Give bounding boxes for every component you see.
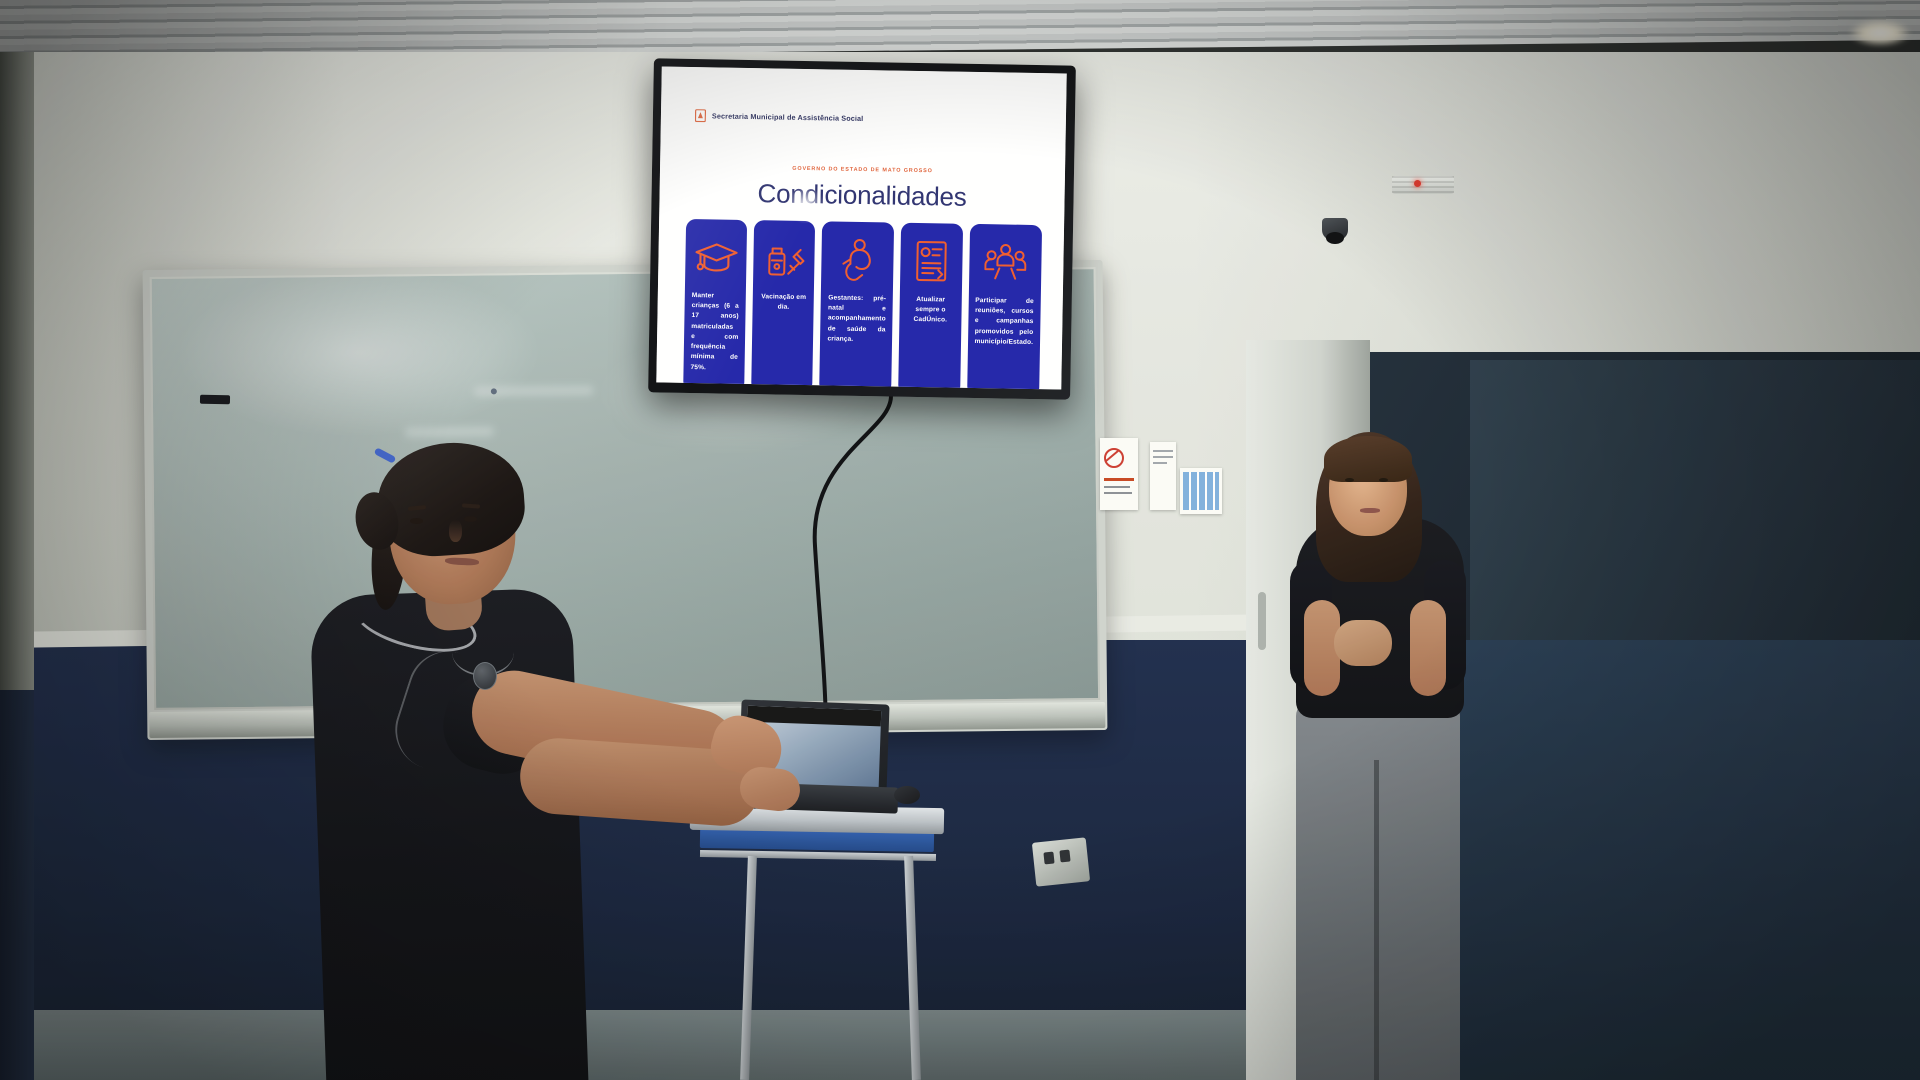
door-lower-panel <box>1440 640 1920 1080</box>
condition-card: Gestantes: pré-natal e acompanhamento de… <box>820 221 895 389</box>
hair-front <box>1324 436 1412 482</box>
left-wall-post <box>0 52 34 692</box>
left-wall-post-lower <box>0 690 34 1080</box>
presentation-slide: Secretaria Municipal de Assistência Soci… <box>656 66 1066 389</box>
wall-mounted-television: Secretaria Municipal de Assistência Soci… <box>648 58 1076 399</box>
notice-line <box>1153 462 1167 464</box>
notice-line <box>1104 486 1130 488</box>
ceiling-shading <box>0 0 1920 60</box>
door-handle[interactable] <box>1258 592 1266 650</box>
whiteboard-smudge <box>404 426 494 437</box>
ceiling-light <box>1850 20 1910 46</box>
condition-card: Atualizar sempre o CadÚnico. <box>898 223 962 390</box>
alarm-sensor <box>1392 176 1454 194</box>
condition-card-text: Vacinação em dia. <box>760 292 808 313</box>
wall-notice <box>1150 442 1176 510</box>
slide-kicker: GOVERNO DO ESTADO DE MATO GROSSO <box>660 163 1065 176</box>
slide-header: Secretaria Municipal de Assistência Soci… <box>695 109 864 125</box>
trouser-seam <box>1374 760 1379 1080</box>
nose <box>449 520 462 542</box>
sensor-grill <box>1392 176 1454 194</box>
eye <box>410 518 423 524</box>
graduation-cap-icon <box>693 229 740 286</box>
condition-card: Vacinação em dia. <box>751 220 815 389</box>
condition-card-text: Gestantes: pré-natal e acompanhamento de… <box>827 293 886 345</box>
eye <box>464 516 477 522</box>
wall-chart-grid <box>1183 472 1219 510</box>
eye <box>1379 478 1388 482</box>
clasped-hands <box>1334 620 1392 666</box>
tv-screen: Secretaria Municipal de Assistência Soci… <box>656 66 1066 389</box>
vaccine-syringe-icon <box>763 230 806 287</box>
sensor-led <box>1414 180 1421 187</box>
door-upper-panel <box>1470 360 1920 660</box>
mouse[interactable] <box>894 786 920 804</box>
tv-mount <box>200 395 230 405</box>
secretaria-logo-icon <box>695 109 706 122</box>
condition-card: Manter crianças (6 a 17 anos) matriculad… <box>683 219 747 390</box>
whiteboard-mark <box>491 388 497 394</box>
notice-line <box>1153 456 1173 458</box>
photo-scene: Secretaria Municipal de Assistência Soci… <box>0 0 1920 1080</box>
notice-line <box>1153 450 1173 452</box>
pregnant-woman-icon <box>837 232 878 289</box>
notice-line <box>1104 478 1134 481</box>
notice-line <box>1104 492 1132 494</box>
condition-card: Participar de reuniões, cursos e campanh… <box>967 224 1042 390</box>
right-forearm <box>1410 600 1446 696</box>
slide-title: Condicionalidades <box>659 176 1064 214</box>
document-update-icon <box>914 233 949 290</box>
necklace-pendant <box>473 662 497 690</box>
outlet-socket <box>1059 850 1070 863</box>
condition-card-text: Participar de reuniões, cursos e campanh… <box>974 296 1033 348</box>
mouth <box>1360 508 1380 513</box>
condition-card-text: Manter crianças (6 a 17 anos) matriculad… <box>690 291 739 374</box>
outlet-socket <box>1043 852 1054 865</box>
condicionalidades-card-row: Manter crianças (6 a 17 anos) matriculad… <box>683 219 1042 390</box>
condition-card-text: Atualizar sempre o CadÚnico. <box>907 295 955 326</box>
slide-header-text: Secretaria Municipal de Assistência Soci… <box>712 111 864 123</box>
people-group-icon <box>984 234 1027 291</box>
eye <box>1345 478 1354 482</box>
security-camera-lens <box>1326 232 1344 244</box>
